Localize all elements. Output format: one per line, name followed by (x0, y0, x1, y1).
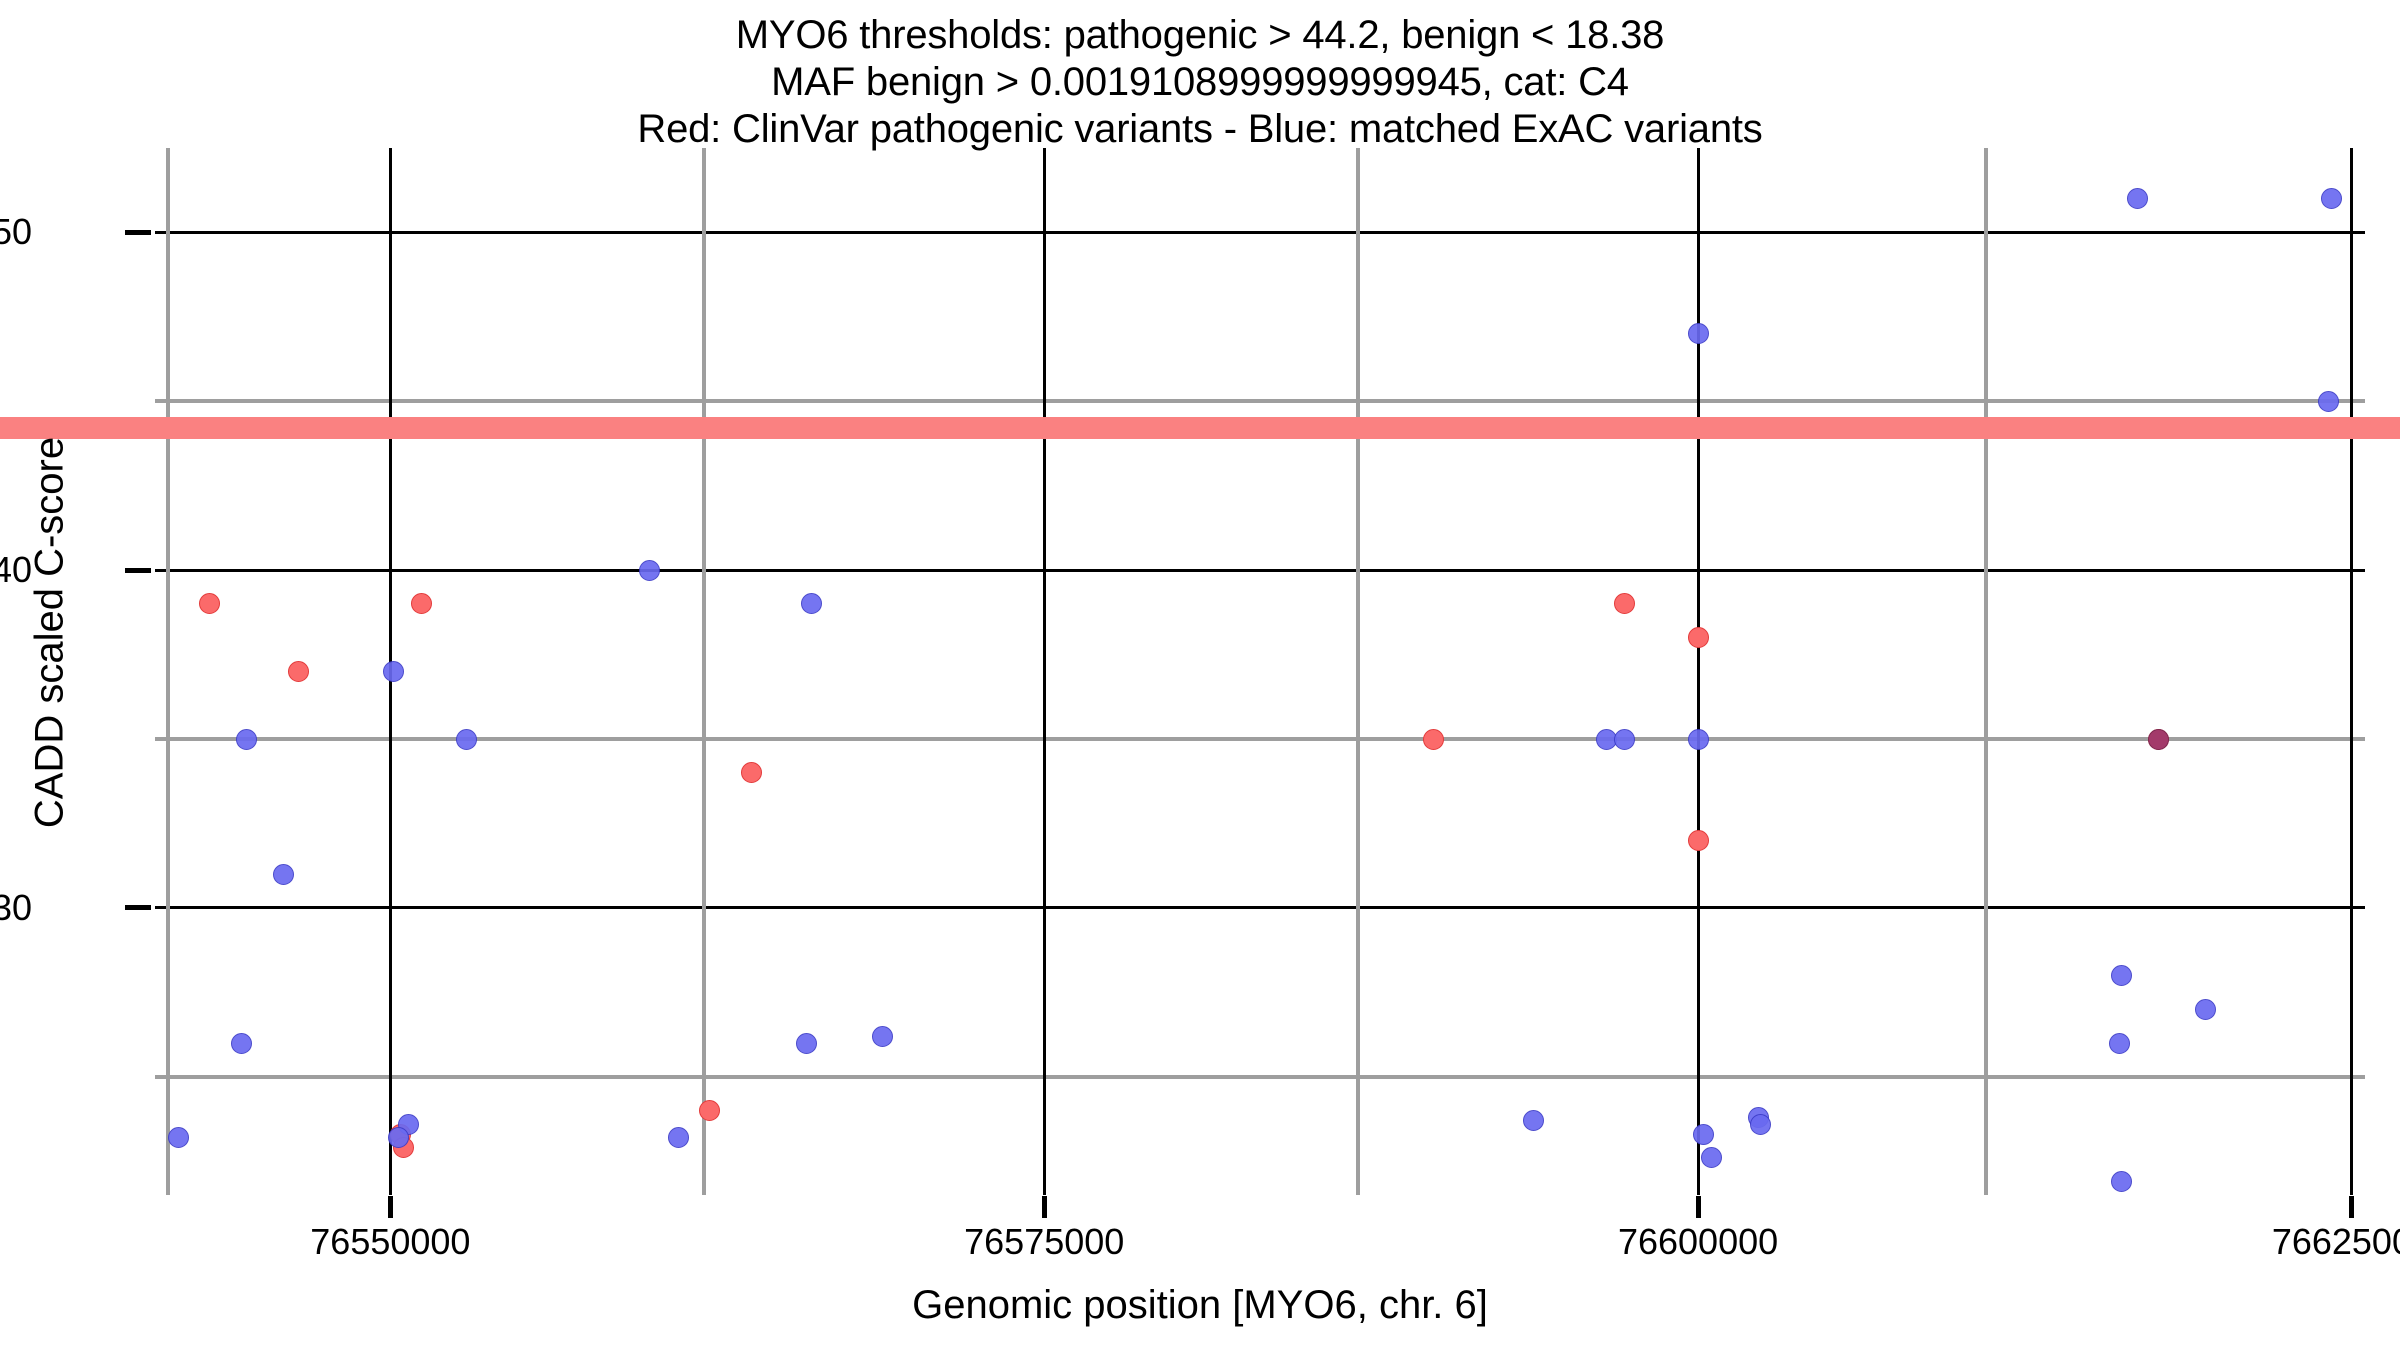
data-point-exac (872, 1026, 893, 1047)
data-point-pathogenic (1614, 593, 1635, 614)
gridline-horizontal (155, 737, 2365, 741)
x-tick-label: 76625000 (2102, 1222, 2400, 1262)
data-point-exac (1701, 1147, 1722, 1168)
pathogenic-threshold-band (0, 417, 2400, 439)
gridline-horizontal (155, 1075, 2365, 1079)
data-point-exac (2127, 188, 2148, 209)
data-point-exac (1523, 1110, 1544, 1131)
gridline-horizontal (155, 399, 2365, 403)
y-tick-mark (125, 568, 151, 573)
data-point-pathogenic (741, 762, 762, 783)
gridline-vertical-major (2350, 148, 2353, 1195)
scatter-plot-figure: CADD scaled C-score Genomic position [MY… (0, 0, 2400, 1350)
x-axis-label: Genomic position [MYO6, chr. 6] (0, 1283, 2400, 1328)
data-point-pathogenic (1423, 729, 1444, 750)
data-point-exac (2195, 999, 2216, 1020)
x-tick-label: 76550000 (140, 1222, 640, 1262)
data-point-overlap (2148, 729, 2169, 750)
x-tick-label: 76575000 (794, 1222, 1294, 1262)
y-tick-mark (125, 905, 151, 910)
data-point-exac (456, 729, 477, 750)
gridline-horizontal-major (155, 569, 2365, 572)
data-point-exac (668, 1127, 689, 1148)
gridline-vertical (1984, 148, 1988, 1195)
data-point-exac (801, 593, 822, 614)
data-point-exac (236, 729, 257, 750)
data-point-exac (1614, 729, 1635, 750)
gridline-vertical-major (1697, 148, 1700, 1195)
gridline-vertical (166, 148, 170, 1195)
data-point-exac (2111, 1171, 2132, 1192)
data-point-exac (1693, 1124, 1714, 1145)
x-tick-label: 76600000 (1448, 1222, 1948, 1262)
data-point-pathogenic (1688, 627, 1709, 648)
y-tick-label: 30 (0, 890, 32, 926)
data-point-exac (1688, 729, 1709, 750)
data-point-pathogenic (199, 593, 220, 614)
data-point-exac (2321, 188, 2342, 209)
x-tick-mark (2349, 1196, 2354, 1218)
data-point-exac (273, 864, 294, 885)
data-point-exac (1750, 1114, 1771, 1135)
x-tick-mark (1696, 1196, 1701, 1218)
data-point-pathogenic (411, 593, 432, 614)
data-point-exac (796, 1033, 817, 1054)
data-point-pathogenic (699, 1100, 720, 1121)
y-tick-mark (125, 230, 151, 235)
data-point-pathogenic (288, 661, 309, 682)
data-point-exac (1688, 323, 1709, 344)
y-axis-label: CADD scaled C-score (28, 283, 73, 983)
data-point-exac (231, 1033, 252, 1054)
y-tick-label: 50 (0, 214, 32, 250)
gridline-horizontal-major (155, 231, 2365, 234)
gridline-vertical-major (1043, 148, 1046, 1195)
data-point-exac (2318, 391, 2339, 412)
data-point-exac (2111, 965, 2132, 986)
x-tick-mark (1042, 1196, 1047, 1218)
data-point-exac (383, 661, 404, 682)
plot-area (155, 148, 2365, 1195)
gridline-horizontal-major (155, 906, 2365, 909)
y-tick-label: 40 (0, 552, 32, 588)
data-point-exac (168, 1127, 189, 1148)
x-tick-mark (388, 1196, 393, 1218)
data-point-exac (2109, 1033, 2130, 1054)
gridline-vertical (702, 148, 706, 1195)
gridline-vertical (1356, 148, 1360, 1195)
data-point-exac (388, 1127, 409, 1148)
data-point-pathogenic (1688, 830, 1709, 851)
data-point-exac (639, 560, 660, 581)
